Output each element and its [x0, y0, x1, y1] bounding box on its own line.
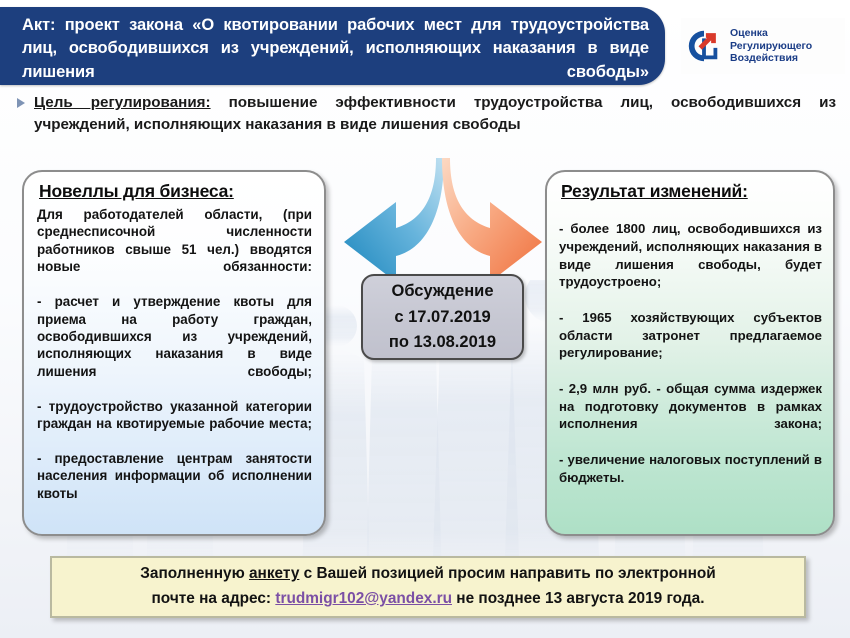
discussion-period-box: Обсуждение с 17.07.2019 по 13.08.2019 [361, 274, 524, 360]
left-panel-paragraph: Для работодателей области, (при среднесп… [37, 206, 312, 293]
questionnaire-link[interactable]: анкету [249, 565, 299, 582]
right-panel-paragraph: - более 1800 лиц, освободившихся из учре… [559, 220, 822, 309]
discussion-title: Обсуждение [392, 279, 494, 304]
left-panel-paragraph: - трудоустройство указанной категории гр… [37, 398, 312, 450]
curved-arrow-right-icon [442, 158, 542, 282]
contact-banner: Заполненную анкету с Вашей позицией прос… [50, 556, 806, 618]
goal-text: Цель регулирования: повышение эффективно… [34, 92, 836, 135]
logo-line-2: Регулирующего [730, 40, 812, 53]
contact-text-a: Заполненную [140, 565, 249, 582]
ora-logo: Оценка Регулирующего Воздействия [681, 18, 845, 74]
ora-logo-text: Оценка Регулирующего Воздействия [730, 27, 812, 65]
right-panel-paragraph: - 2,9 млн руб. - общая сумма издержек на… [559, 380, 822, 451]
slide-canvas: Акт: проект закона «О квотировании рабоч… [0, 0, 850, 638]
goal-statement: Цель регулирования: повышение эффективно… [14, 92, 836, 135]
discussion-end-date: по 13.08.2019 [389, 330, 496, 355]
left-panel-paragraph: - расчет и утверждение квоты для приема … [37, 293, 312, 398]
right-panel-heading: Результат изменений: [561, 181, 822, 202]
header-banner: Акт: проект закона «О квотировании рабоч… [0, 7, 665, 85]
left-panel-heading: Новеллы для бизнеса: [39, 181, 312, 202]
email-link[interactable]: trudmigr102@yandex.ru [275, 590, 452, 607]
left-panel-body: Для работодателей области, (при среднесп… [37, 206, 312, 502]
logo-line-1: Оценка [730, 27, 812, 40]
ora-logo-icon [685, 27, 723, 65]
left-panel-paragraph: - предоставление центрам занятости насел… [37, 450, 312, 502]
contact-text-b: с Вашей позицией просим направить по эле… [299, 565, 715, 582]
contact-banner-line-2: почте на адрес: trudmigr102@yandex.ru не… [152, 587, 705, 612]
discussion-start-date: с 17.07.2019 [394, 305, 490, 330]
contact-text-d: не позднее 13 августа 2019 года. [452, 590, 704, 607]
panel-novelties-for-business: Новеллы для бизнеса: Для работодателей о… [22, 170, 326, 536]
triangle-bullet-icon [17, 98, 25, 108]
right-panel-body: - более 1800 лиц, освободившихся из учре… [559, 220, 822, 486]
panel-result-of-changes: Результат изменений: - более 1800 лиц, о… [545, 170, 835, 536]
contact-banner-line-1: Заполненную анкету с Вашей позицией прос… [140, 562, 715, 587]
contact-text-c: почте на адрес: [152, 590, 276, 607]
curved-arrow-left-icon [344, 158, 444, 282]
logo-line-3: Воздействия [730, 52, 812, 65]
goal-label: Цель регулирования: [34, 94, 211, 111]
right-panel-paragraph: - 1965 хозяйствующих субъектов области з… [559, 309, 822, 380]
right-panel-paragraph: - увеличение налоговых поступлений в бюд… [559, 451, 822, 487]
process-arrows [340, 158, 546, 286]
